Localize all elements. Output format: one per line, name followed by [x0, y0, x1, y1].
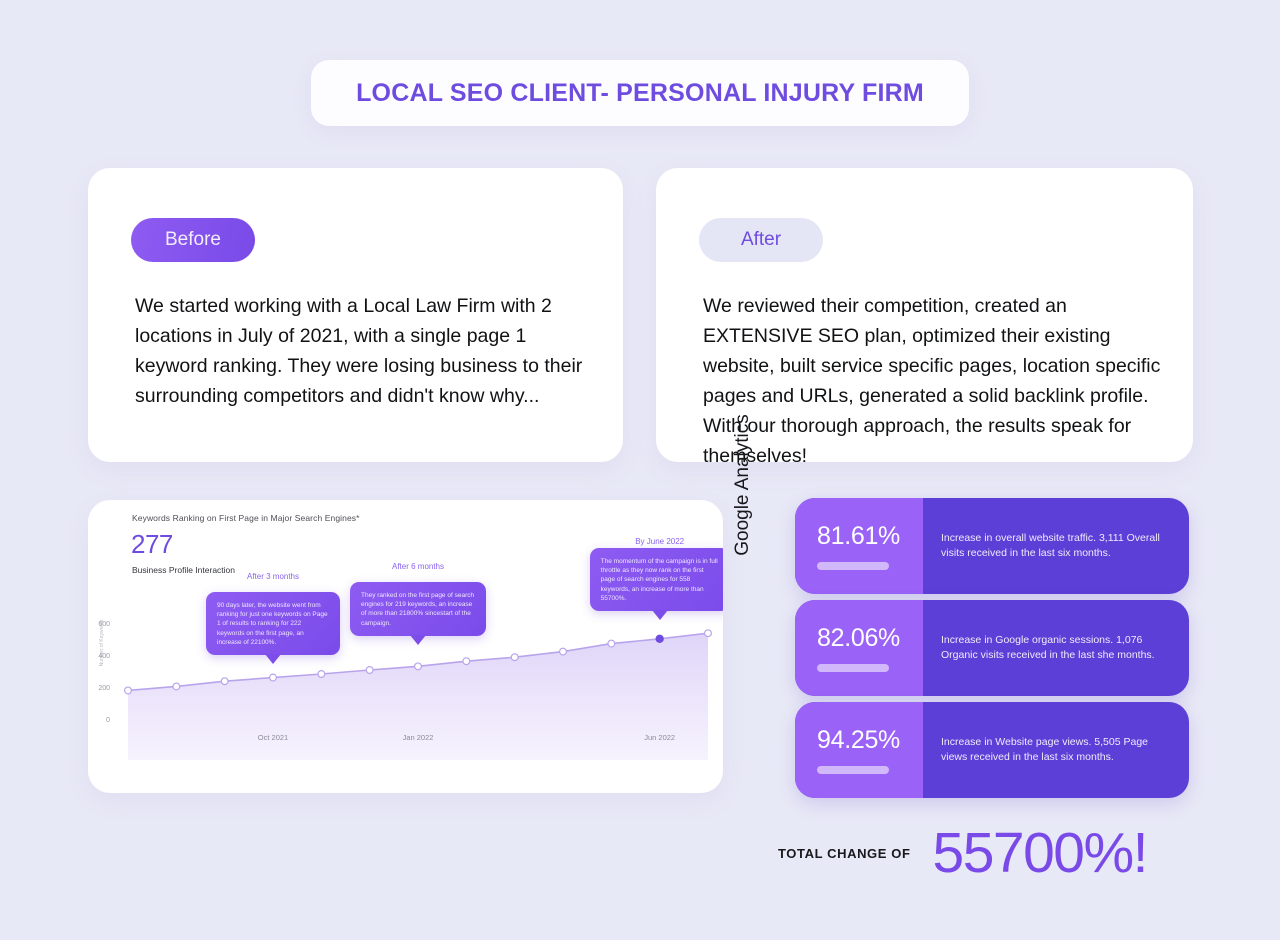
metric-percent-panel: 82.06%	[795, 600, 923, 696]
chart-data-point	[511, 654, 518, 661]
total-change-value: 55700%!	[933, 825, 1148, 882]
chart-card: Keywords Ranking on First Page in Major …	[88, 500, 723, 793]
chart-data-point	[560, 648, 567, 655]
chart-ytick-label: 200	[88, 685, 110, 692]
chart-data-point	[366, 667, 373, 674]
metric-description: Increase in overall website traffic. 3,1…	[941, 531, 1171, 561]
chart-xtick-label: Oct 2021	[258, 733, 288, 742]
chart-xtick-label: Jun 2022	[644, 733, 675, 742]
metric-percent: 94.25%	[817, 726, 923, 755]
metric-description-panel: Increase in Website page views. 5,505 Pa…	[923, 702, 1189, 798]
chart-callout-label: After 6 months	[392, 562, 444, 571]
metric-percent: 81.61%	[817, 522, 923, 551]
metric-percent-panel: 81.61%	[795, 498, 923, 594]
google-analytics-section-label: Google Analytics	[732, 400, 754, 570]
chart-data-point	[125, 687, 132, 694]
before-body-text: We started working with a Local Law Firm…	[135, 291, 597, 411]
before-pill: Before	[131, 218, 255, 262]
chart-data-point	[415, 663, 422, 670]
metric-card: 94.25%Increase in Website page views. 5,…	[795, 702, 1189, 798]
chart-callout-bubble: They ranked on the first page of search …	[350, 582, 486, 636]
chart-xtick-label: Jan 2022	[403, 733, 434, 742]
keywords-line-chart	[88, 500, 723, 793]
chart-data-point	[608, 640, 615, 647]
after-body-text: We reviewed their competition, created a…	[703, 291, 1175, 471]
metric-card: 81.61%Increase in overall website traffi…	[795, 498, 1189, 594]
metric-description-panel: Increase in Google organic sessions. 1,0…	[923, 600, 1189, 696]
chart-data-point	[705, 630, 712, 637]
before-card: Before We started working with a Local L…	[88, 168, 623, 462]
chart-callout-label: By June 2022	[635, 537, 684, 546]
chart-callout-label: After 3 months	[247, 572, 299, 581]
page-title: LOCAL SEO CLIENT- PERSONAL INJURY FIRM	[356, 79, 924, 108]
metric-progress-bar	[817, 562, 889, 570]
after-pill-label: After	[741, 229, 781, 251]
chart-data-point	[270, 674, 277, 681]
chart-data-point	[318, 671, 325, 678]
metric-description-panel: Increase in overall website traffic. 3,1…	[923, 498, 1189, 594]
after-pill: After	[699, 218, 823, 262]
chart-callout-bubble: The momentum of the campaign is in full …	[590, 548, 723, 611]
chart-data-point	[221, 678, 228, 685]
total-change-label: TOTAL CHANGE OF	[778, 846, 911, 861]
before-pill-label: Before	[165, 229, 221, 251]
title-card: LOCAL SEO CLIENT- PERSONAL INJURY FIRM	[311, 60, 969, 126]
metric-card: 82.06%Increase in Google organic session…	[795, 600, 1189, 696]
total-change-row: TOTAL CHANGE OF 55700%!	[778, 818, 1178, 888]
metric-progress-bar	[817, 766, 889, 774]
metric-description: Increase in Website page views. 5,505 Pa…	[941, 735, 1171, 765]
chart-callout-bubble: 90 days later, the website went from ran…	[206, 592, 340, 655]
metric-percent: 82.06%	[817, 624, 923, 653]
chart-data-point	[173, 683, 180, 690]
chart-ytick-label: 400	[88, 653, 110, 660]
chart-data-point	[656, 635, 663, 642]
infographic-page: LOCAL SEO CLIENT- PERSONAL INJURY FIRM B…	[0, 0, 1280, 940]
metric-description: Increase in Google organic sessions. 1,0…	[941, 633, 1171, 663]
chart-ytick-label: 0	[88, 717, 110, 724]
metric-progress-bar	[817, 664, 889, 672]
chart-ytick-label: 600	[88, 621, 110, 628]
chart-data-point	[463, 658, 470, 665]
metric-percent-panel: 94.25%	[795, 702, 923, 798]
